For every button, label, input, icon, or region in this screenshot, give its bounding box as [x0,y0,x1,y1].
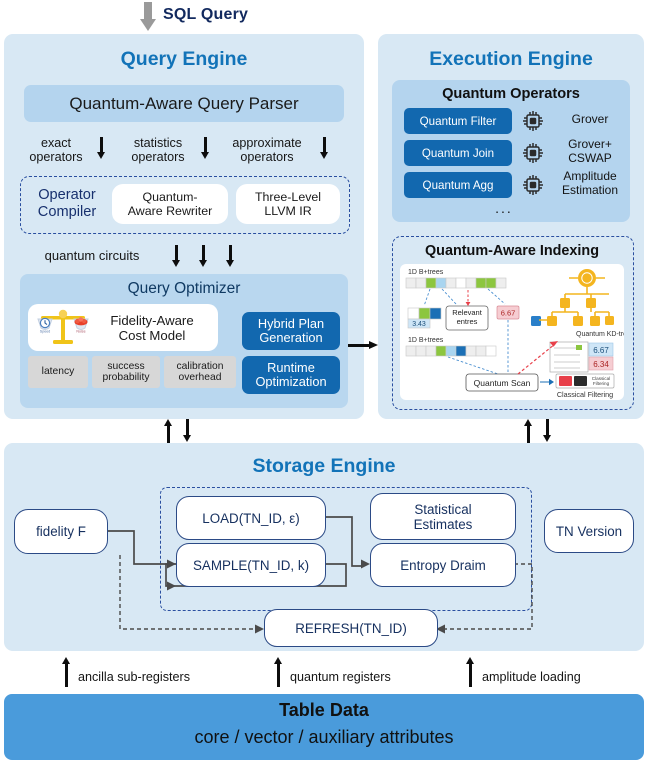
value-6-67: 6.67 [501,309,516,318]
quantum-agg-button[interactable]: Quantum Agg [404,172,512,198]
cost-model-label: Fidelity-AwareCost Model [86,313,218,343]
quantum-operators-title: Quantum Operators [392,86,630,102]
entropy-drain-box[interactable]: Entropy Draim [370,543,516,587]
arrow-up-left [164,419,173,443]
query-engine-title: Query Engine [4,48,364,71]
refresh-operation-box[interactable]: REFRESH(TN_ID) [264,609,438,647]
btree-bottom-label: 1D B+trees [408,337,444,344]
fidelity-aware-cost-model-card[interactable]: Speed Noise Fidelity-AwareCost Model [28,304,218,351]
indexing-illustration: 1D B+trees 3.43 Relevant entres 6.67 1D … [400,264,624,400]
quantum-scan-label: Quantum Scan [474,378,531,388]
compiler-chip-llvm-ir[interactable]: Three-LevelLLVM IR [236,184,340,224]
arrow-up-quantum-registers [274,657,283,687]
classical-filtering-label: Classical Filtering [557,390,613,399]
execution-storage-exchange-arrows [524,419,554,443]
operator-compiler-label: OperatorCompiler [28,184,106,224]
storage-engine-title: Storage Engine [4,455,644,478]
runtime-optimization-button[interactable]: RuntimeOptimization [242,356,340,394]
sql-query-arrow [140,2,156,32]
arrow-up-ancilla [62,657,71,687]
algorithm-grover-cswap: Grover+CSWAP [552,138,628,165]
compiler-chip-rewriter[interactable]: Quantum-Aware Rewriter [112,184,228,224]
fidelity-f-box[interactable]: fidelity F [14,509,108,554]
balance-scale-speed-noise-icon: Speed Noise [34,307,94,348]
algorithm-grover: Grover [552,113,628,127]
list-value-1: 6.67 [593,346,609,355]
quantum-filter-button[interactable]: Quantum Filter [404,108,512,134]
list-value-2: 6.34 [593,360,609,369]
svg-text:entres: entres [457,317,478,326]
table-data-subtitle: core / vector / auxiliary attributes [4,727,644,748]
microchip-icon [522,141,544,165]
operator-label-approximate: approximateoperators [218,136,316,164]
value-3-43: 3.43 [412,321,426,328]
svg-text:Noise: Noise [76,330,85,334]
hybrid-plan-generation-button[interactable]: Hybrid PlanGeneration [242,312,340,350]
channel-label-ancilla: ancilla sub-registers [78,670,190,684]
svg-text:Filtering: Filtering [593,381,610,386]
quantum-circuits-label: quantum circuits [22,248,162,263]
channel-label-quantum-registers: quantum registers [290,670,391,684]
microchip-icon [522,173,544,197]
load-operation-box[interactable]: LOAD(TN_ID, ε) [176,496,326,540]
metric-success-probability: successprobability [92,356,160,388]
quantum-operators-ellipsis: ... [392,200,616,216]
sample-operation-box[interactable]: SAMPLE(TN_ID, k) [176,543,326,587]
svg-text:Speed: Speed [40,330,50,334]
operator-label-exact: exactoperators [18,136,94,164]
quantum-aware-query-parser[interactable]: Quantum-Aware Query Parser [24,85,344,122]
quantum-join-button[interactable]: Quantum Join [404,140,512,166]
svg-text:Relevant: Relevant [452,308,483,317]
statistical-estimates-box[interactable]: StatisticalEstimates [370,493,516,540]
channel-label-amplitude-loading: amplitude loading [482,670,581,684]
query-optimizer-title: Query Optimizer [20,280,348,298]
operator-label-statistics: statisticsoperators [118,136,198,164]
arrow-up-amplitude-loading [466,657,475,687]
algorithm-amplitude-estimation: AmplitudeEstimation [552,170,628,197]
kd-tree-label: Quantum KD-tree [576,331,624,338]
metric-latency: latency [28,356,88,388]
arrow-down-right [543,419,552,443]
arrow-execution-to-query [348,341,378,350]
execution-engine-title: Execution Engine [378,48,644,71]
query-storage-exchange-arrows [164,419,194,443]
arrow-down-left [183,419,192,443]
quantum-aware-indexing-title: Quantum-Aware Indexing [392,243,632,259]
microchip-icon [522,109,544,133]
arrow-up-right [524,419,533,443]
tn-version-box[interactable]: TN Version [544,509,634,553]
table-data-title: Table Data [4,700,644,721]
metric-calibration-overhead: calibrationoverhead [164,356,236,388]
sql-query-label: SQL Query [163,6,248,24]
btree-top-label: 1D B+trees [408,269,444,276]
